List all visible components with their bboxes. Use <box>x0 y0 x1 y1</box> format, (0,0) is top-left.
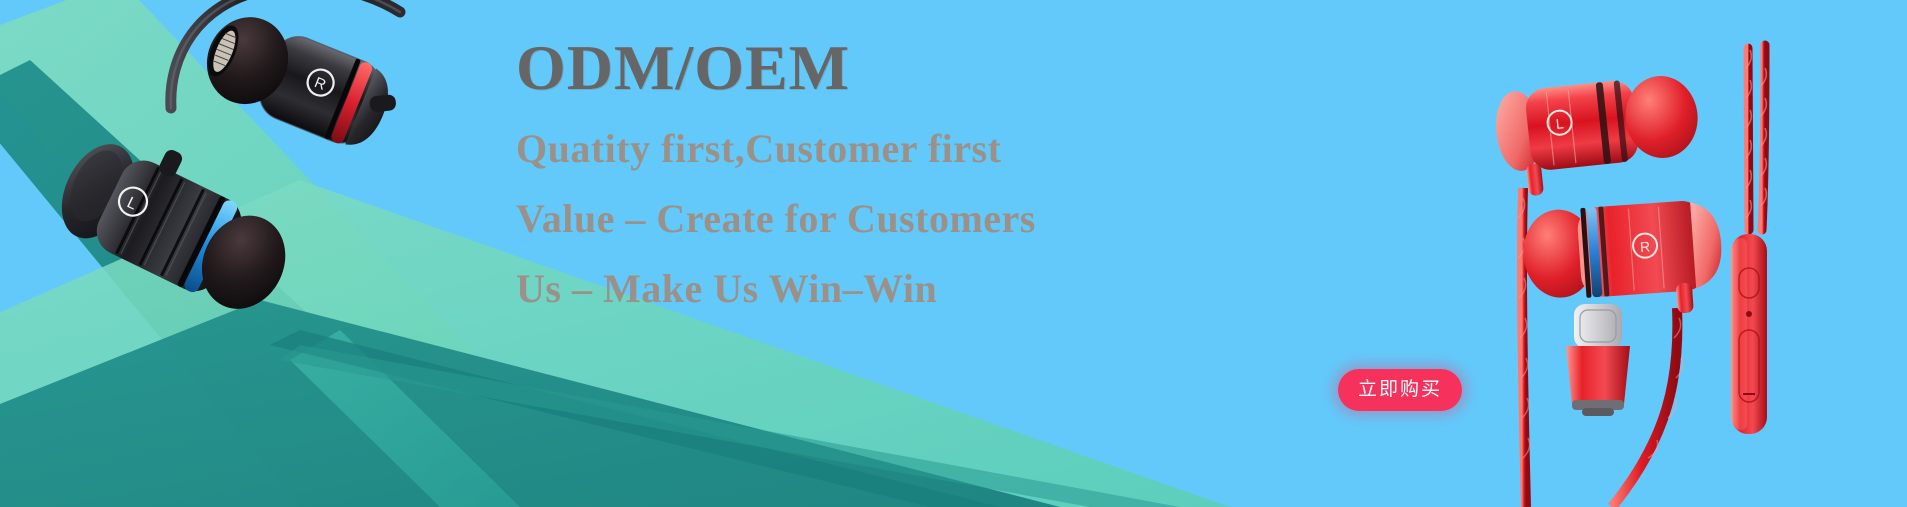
cable-trunk-a <box>1748 48 1749 230</box>
usbc-connector <box>1566 304 1630 416</box>
cable-left-bud <box>1522 188 1526 507</box>
earbud-left-red: L <box>1492 72 1704 199</box>
microphone-hole <box>1746 311 1752 317</box>
inline-remote <box>1731 234 1767 434</box>
page-title: ODM/OEM <box>516 34 1216 101</box>
promo-banner: R <box>0 0 1907 507</box>
tagline-2: Value – Create for Customers <box>516 199 1216 239</box>
earbud-right-black: R <box>194 5 409 160</box>
tagline-1: Quatity first,Customer first <box>516 129 1216 169</box>
product-image-black-earphones: R <box>48 0 468 326</box>
usbc-housing <box>1566 346 1630 404</box>
earbud-right-red: R <box>1520 198 1725 324</box>
usbc-plug <box>1574 304 1622 348</box>
tagline-3: Us – Make Us Win–Win <box>516 269 1216 309</box>
marketing-copy: ODM/OEM Quatity first,Customer first Val… <box>516 34 1216 309</box>
buy-now-button[interactable]: 立即购买 <box>1338 369 1462 411</box>
earbud-left-black: L <box>48 114 310 324</box>
product-image-red-earphones: L R <box>1452 18 1907 507</box>
label-r: R <box>1640 238 1651 255</box>
tagline-list: Quatity first,Customer first Value – Cre… <box>516 129 1216 309</box>
